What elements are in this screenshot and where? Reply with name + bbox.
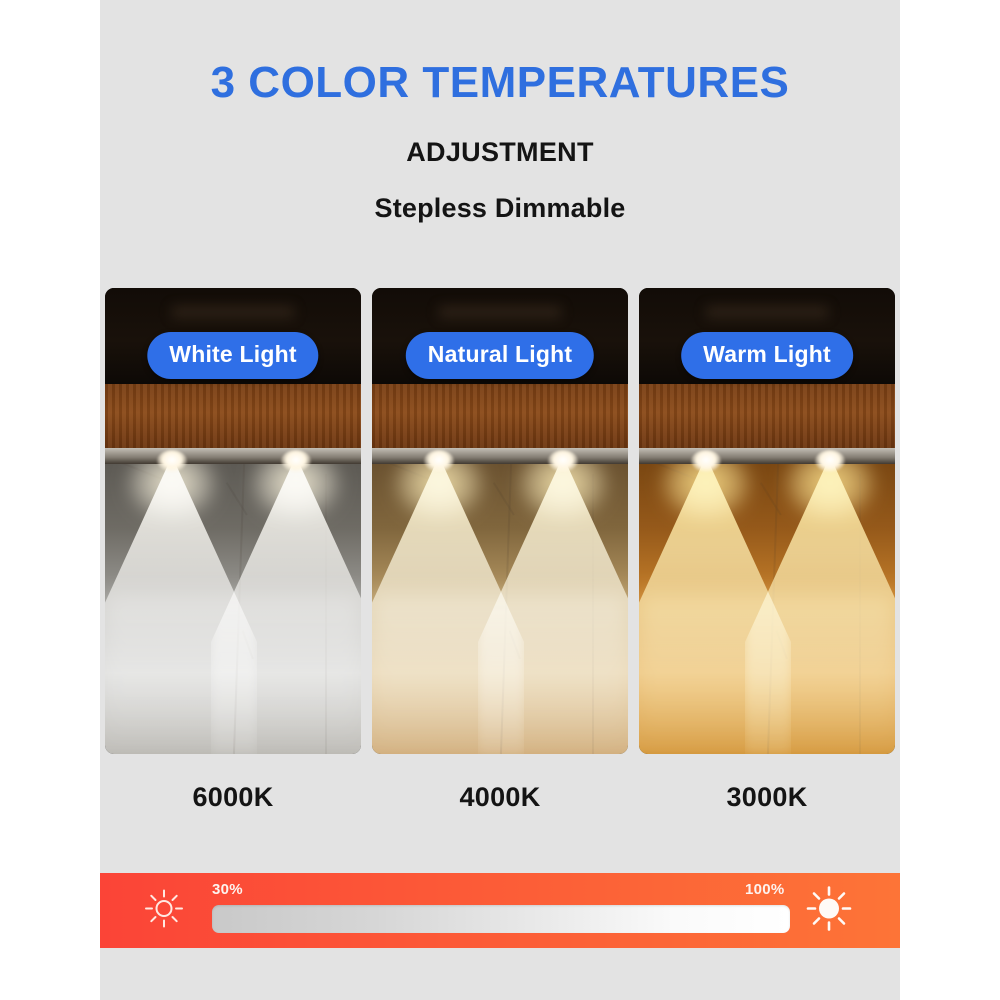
light-panels-row: White Light <box>105 288 895 754</box>
kelvin-label-4000k: 4000K <box>372 782 628 813</box>
dimmer-bar: 30% 100% <box>100 873 900 948</box>
led-strip-bar <box>105 448 361 464</box>
led-light-right <box>815 450 845 472</box>
dimmer-max-label: 100% <box>745 881 785 898</box>
marble-wall <box>105 464 361 754</box>
light-panel-white[interactable]: White Light <box>105 288 361 754</box>
badge-white-light[interactable]: White Light <box>147 332 318 379</box>
led-light-right <box>548 450 578 472</box>
cabinet-wood-texture <box>639 384 895 448</box>
led-strip-bar <box>639 448 895 464</box>
led-strip-bar <box>372 448 628 464</box>
marble-wall <box>372 464 628 754</box>
cabinet-wood-texture <box>372 384 628 448</box>
cabinet-wood-texture <box>105 384 361 448</box>
led-light-left <box>157 450 187 472</box>
kelvin-label-3000k: 3000K <box>639 782 895 813</box>
badge-warm-light[interactable]: Warm Light <box>681 332 853 379</box>
content-area: 3 COLOR TEMPERATURES ADJUSTMENT Stepless… <box>100 0 900 1000</box>
kelvin-labels-row: 6000K 4000K 3000K <box>105 782 895 813</box>
kelvin-label-6000k: 6000K <box>105 782 361 813</box>
cabinet-face <box>105 384 361 448</box>
light-panel-warm[interactable]: Warm Light <box>639 288 895 754</box>
infographic-page: 3 COLOR TEMPERATURES ADJUSTMENT Stepless… <box>0 0 1000 1000</box>
page-subtitle: ADJUSTMENT <box>100 137 900 168</box>
page-title: 3 COLOR TEMPERATURES <box>100 58 900 108</box>
sun-filled-icon <box>806 885 852 936</box>
badge-natural-light[interactable]: Natural Light <box>406 332 594 379</box>
floor-light-wash <box>639 594 895 754</box>
floor-light-wash <box>372 594 628 754</box>
sun-outline-icon <box>144 888 184 933</box>
dimmer-min-label: 30% <box>212 881 243 898</box>
page-tagline: Stepless Dimmable <box>100 193 900 224</box>
cabinet-face <box>372 384 628 448</box>
marble-wall <box>639 464 895 754</box>
cabinet-face <box>639 384 895 448</box>
led-light-left <box>691 450 721 472</box>
led-light-left <box>424 450 454 472</box>
light-panel-natural[interactable]: Natural Light <box>372 288 628 754</box>
brightness-slider[interactable] <box>212 905 790 933</box>
floor-light-wash <box>105 594 361 754</box>
led-light-right <box>281 450 311 472</box>
